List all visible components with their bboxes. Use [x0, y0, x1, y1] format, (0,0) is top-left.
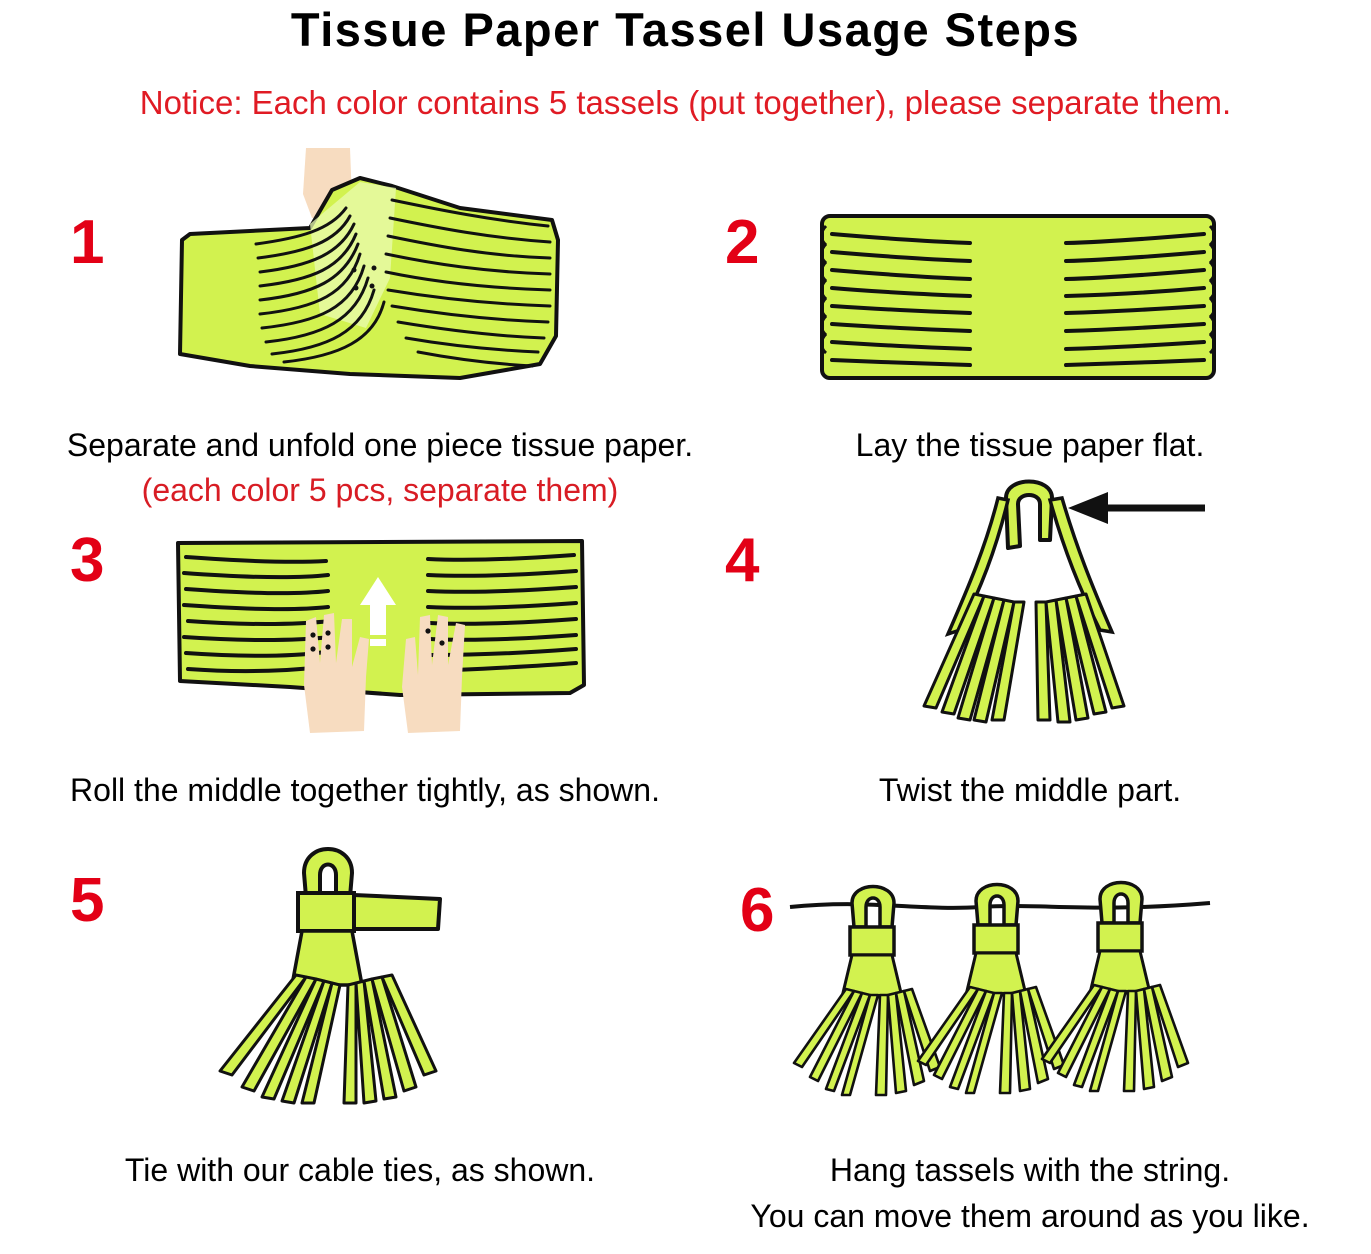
caption-step-2: Lay the tissue paper flat. [690, 425, 1370, 466]
caption-step-1-note: (each color 5 pcs, separate them) [0, 470, 760, 511]
step-number-5: 5 [70, 870, 104, 932]
instruction-sheet: Tissue Paper Tassel Usage Steps Notice: … [0, 0, 1371, 1254]
caption-step-3: Roll the middle together tightly, as sho… [0, 770, 730, 811]
illustration-step-3 [170, 535, 590, 750]
caption-step-6-line2: You can move them around as you like. [690, 1196, 1370, 1237]
caption-step-6: Hang tassels with the string. [690, 1150, 1370, 1191]
illustration-step-2 [818, 212, 1218, 382]
step-number-4: 4 [725, 530, 759, 592]
caption-step-5: Tie with our cable ties, as shown. [0, 1150, 720, 1191]
step-number-6: 6 [740, 880, 774, 942]
step-number-1: 1 [70, 212, 104, 274]
step-number-3: 3 [70, 530, 104, 592]
notice-text: Notice: Each color contains 5 tassels (p… [0, 84, 1371, 122]
illustration-step-4 [900, 470, 1210, 740]
step-number-2: 2 [725, 212, 759, 274]
illustration-step-1 [160, 148, 580, 398]
caption-step-4: Twist the middle part. [690, 770, 1370, 811]
illustration-step-5 [210, 835, 510, 1125]
page-title: Tissue Paper Tassel Usage Steps [0, 2, 1371, 57]
illustration-step-6 [790, 885, 1210, 1120]
left-arrow-icon [1068, 492, 1205, 524]
caption-step-1: Separate and unfold one piece tissue pap… [0, 425, 760, 466]
